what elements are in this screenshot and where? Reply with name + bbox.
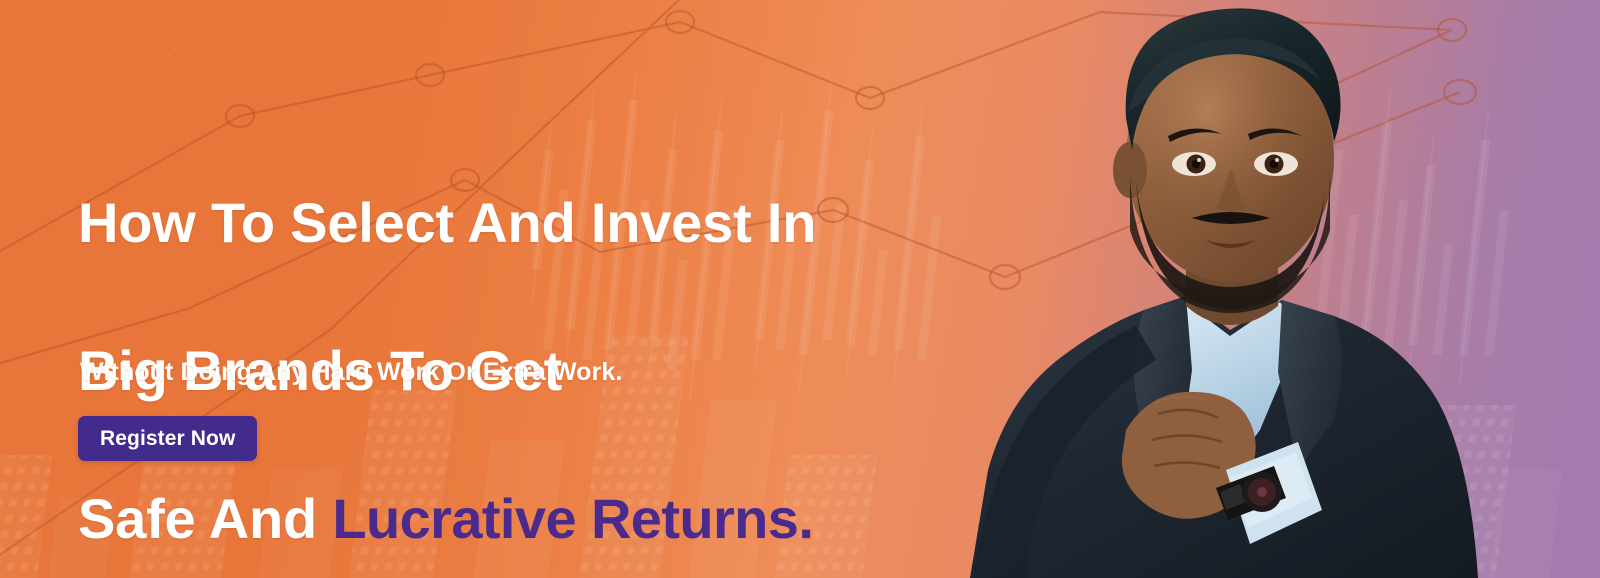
headline-period: . (798, 487, 813, 550)
hero-content: How To Select And Invest In Big Brands T… (78, 0, 898, 578)
headline-line-1: How To Select And Invest In (78, 186, 898, 260)
hero-banner: How To Select And Invest In Big Brands T… (0, 0, 1600, 578)
businessman-portrait-image (930, 0, 1550, 578)
register-now-button[interactable]: Register Now (78, 416, 257, 461)
subtitle: Without Doing Any Hard Work Or Extra Wor… (80, 358, 622, 387)
businessman-photo (930, 0, 1550, 578)
headline-line-3-prefix: Safe And (78, 487, 332, 550)
headline-line-3: Safe And Lucrative Returns. (78, 482, 898, 556)
page-title: How To Select And Invest In Big Brands T… (78, 112, 898, 578)
headline-accent-text: Lucrative Returns (332, 487, 798, 550)
